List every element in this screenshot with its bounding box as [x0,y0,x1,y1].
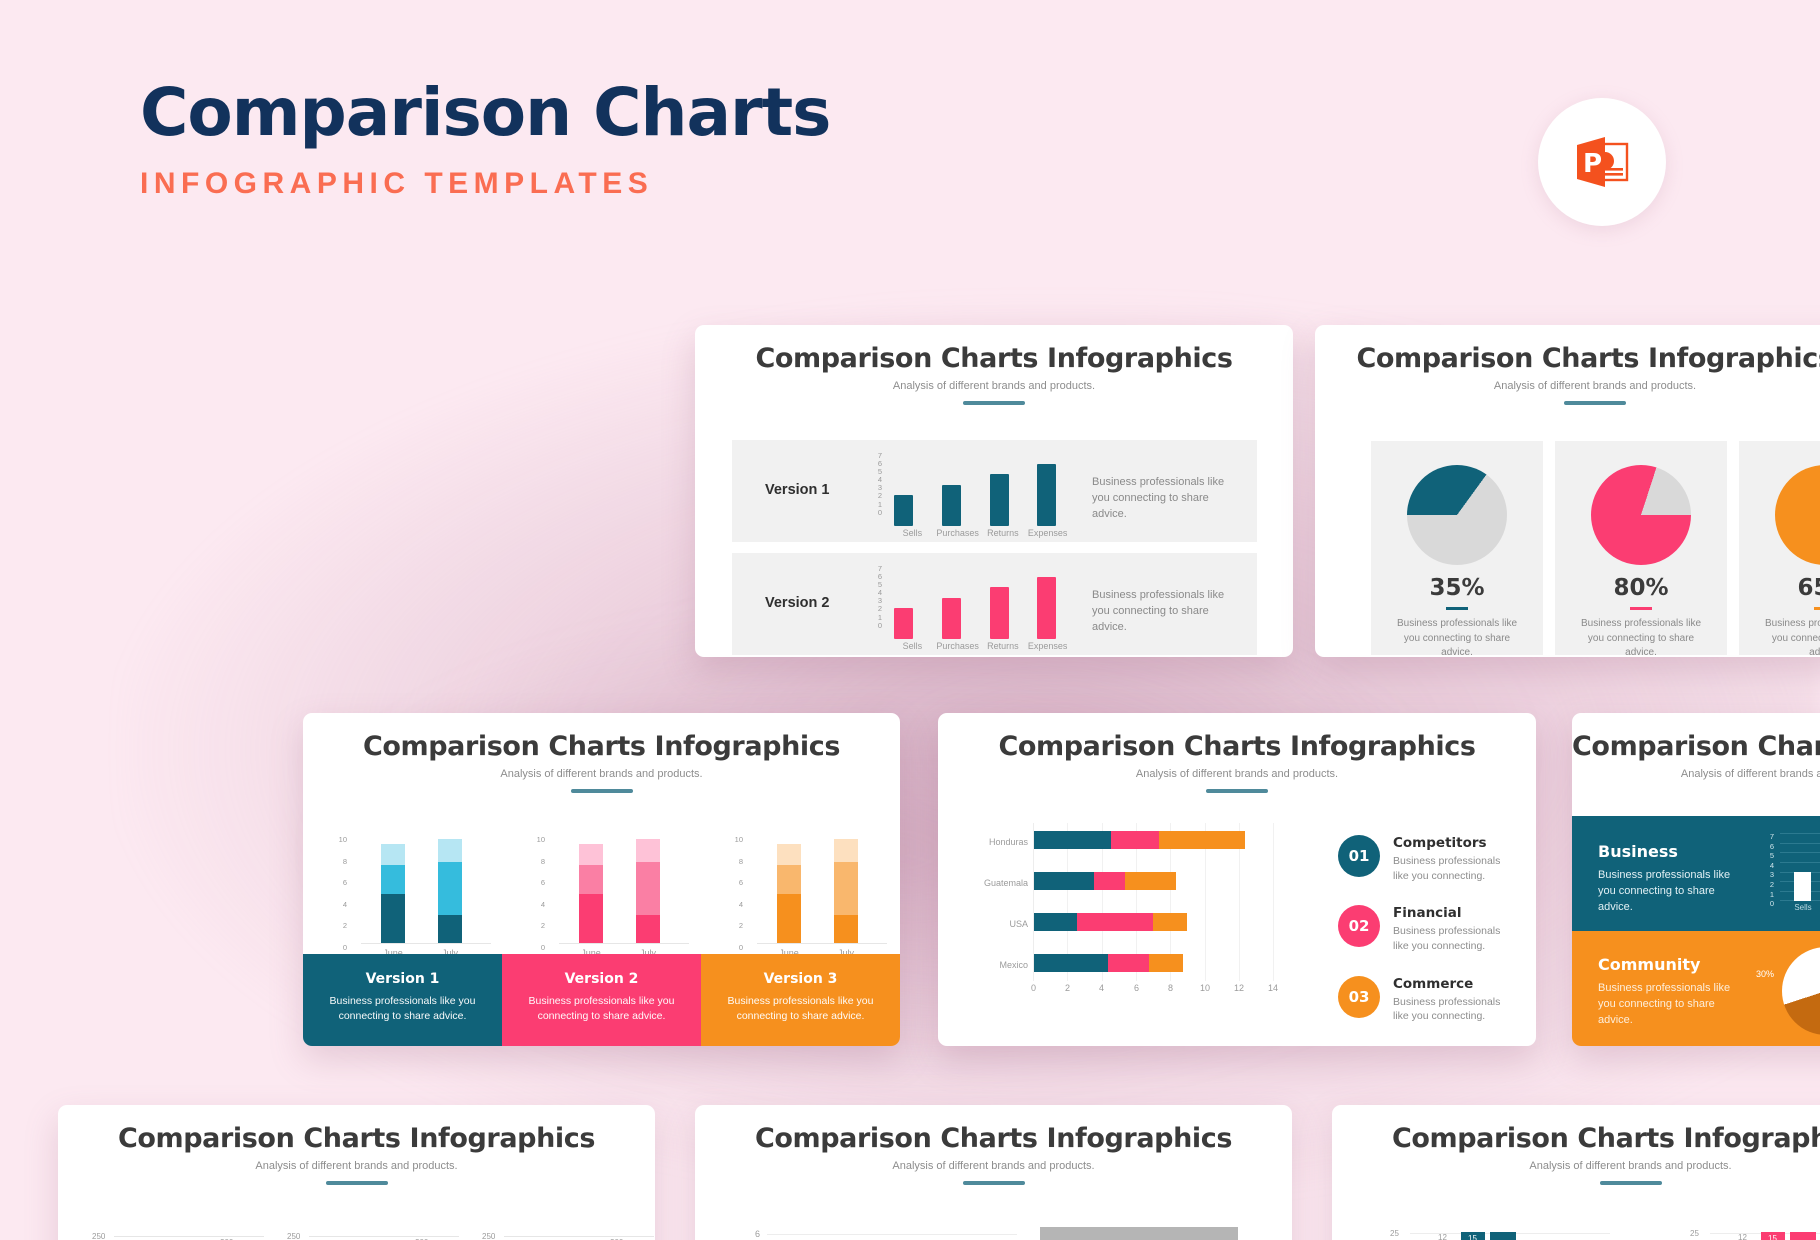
stacked-bar-july [834,836,858,944]
pie-chart-35 [1407,465,1507,565]
slide-2-header: Comparison Charts Infographics Analysis … [1315,325,1820,405]
pie-value-35: 35% [1371,575,1543,601]
version-1-label: Version 1 [765,482,829,498]
y-axis-1: 76543210 [872,452,882,517]
slide-title: Comparison Charts Infographics [58,1123,655,1154]
xtick-12: 12 [1234,983,1244,993]
ytick-250: 250 [287,1232,300,1240]
title-rule [1600,1181,1662,1185]
slide-card-8[interactable]: Comparison Charts Infographics Analysis … [1332,1105,1820,1240]
stacked-bar-july [636,836,660,944]
title-rule [326,1181,388,1185]
cat-sells: Sells [890,641,935,651]
business-title: Business [1598,842,1678,861]
xtick-10: 10 [1200,983,1210,993]
legend-title-01: Competitors [1393,835,1518,851]
slide-5-header: Comparison Charts Infographics Analysis … [1572,713,1820,780]
svg-text:P: P [1583,149,1602,179]
ytick-25: 25 [1390,1229,1399,1238]
pie-panel-2: 80% Business professionals like you conn… [1555,441,1727,655]
xtick-8: 8 [1168,983,1173,993]
cat-purchases: Purchases [935,528,981,538]
pie-rule-3 [1814,607,1820,610]
xtick-14: 14 [1268,983,1278,993]
version-row-2: Version 2 76543210 Sells Purchases Retur… [732,553,1257,655]
xtick-4: 4 [1099,983,1104,993]
version-strip-2[interactable]: Version 2 Business professionals like yo… [502,954,701,1046]
slide-card-4[interactable]: Comparison Charts Infographics Analysis … [938,713,1536,1046]
bar-expenses [1037,464,1056,526]
y-axis-teal: 1086420 [333,829,347,958]
strip-3-title: Version 3 [701,971,900,987]
label-12: 12 [1438,1233,1447,1240]
title-rule [1206,789,1268,793]
title-rule [963,401,1025,405]
ytick-250: 250 [482,1232,495,1240]
bar-sells [1794,872,1811,901]
label-15: 15 [1768,1234,1777,1240]
pie-caption-1: Business professionals like you connecti… [1389,617,1525,657]
legend-text-02: Business professionals like you connecti… [1393,924,1518,953]
stacked-bar-july [438,836,462,944]
bar-sells [894,495,913,526]
bar-returns [990,587,1009,639]
slide-1-header: Comparison Charts Infographics Analysis … [695,325,1293,405]
stacked-panel-3: 1086420 June July [721,826,900,971]
bar-expenses [1037,577,1056,639]
strip-1-text: Business professionals like you connecti… [303,994,502,1024]
title-rule [963,1181,1025,1185]
cat-purchases: Purchases [935,641,981,651]
slide-title: Comparison Charts Infographics [303,731,900,762]
waterfall-chart-teal: 25 20 12 15 20 10 [1390,1229,1630,1240]
slide-8-header: Comparison Charts Infographics Analysis … [1332,1105,1820,1185]
hbar-label-honduras: Honduras [983,837,1028,847]
legend-badge-03: 03 [1338,976,1380,1018]
hbar-row-guatemala [1034,872,1176,890]
slide-subtitle: Analysis of different brands and product… [938,768,1536,780]
pie-rule-2 [1630,607,1652,610]
title-rule [1564,401,1626,405]
legend-item-financial[interactable]: 02 Financial Business professionals like… [1338,905,1518,953]
bar-purchases [942,598,961,639]
y-axis-2: 76543210 [872,565,882,630]
hbar-label-usa: USA [983,919,1028,929]
community-text: Business professionals like you connecti… [1598,981,1738,1029]
business-text: Business professionals like you connecti… [1598,868,1738,916]
slide-7-header: Comparison Charts Infographics Analysis … [695,1105,1292,1185]
slide-4-header: Comparison Charts Infographics Analysis … [938,713,1536,793]
legend-badge-01: 01 [1338,835,1380,877]
pie-chart-65 [1775,465,1820,565]
legend-text-03: Business professionals like you connecti… [1393,995,1518,1024]
table-header-row: Product 2001 2002 2993 [1040,1227,1238,1240]
cat-sells: Sells [890,528,935,538]
xtick-0: 0 [1031,983,1036,993]
business-panel: Business Business professionals like you… [1572,816,1820,931]
strip-1-title: Version 1 [303,971,502,987]
cat-sells: Sells [1782,903,1820,912]
pie-caption-3: Business professionals like you connecti… [1757,617,1820,657]
version-1-note: Business professionals like you connecti… [1092,475,1237,523]
hbar-label-guatemala: Guatemala [983,878,1028,888]
title-rule [571,789,633,793]
version-strip-1[interactable]: Version 1 Business professionals like yo… [303,954,502,1046]
legend-title-02: Financial [1393,905,1518,921]
legend-item-commerce[interactable]: 03 Commerce Business professionals like … [1338,976,1518,1024]
slide-title: Comparison Charts Infographics [1332,1123,1820,1154]
slide-card-3[interactable]: Comparison Charts Infographics Analysis … [303,713,900,1046]
community-panel: Community Business professionals like yo… [1572,931,1820,1046]
axis-label-6: 6 [755,1229,760,1239]
hbar-row-honduras [1034,831,1245,849]
stacked-bar-june [381,836,405,944]
stacked-panel-1: 1086420 June July [325,826,523,971]
pie-caption-2: Business professionals like you connecti… [1573,617,1709,657]
strip-2-title: Version 2 [502,971,701,987]
ytick-25: 25 [1690,1229,1699,1238]
slide-6-header: Comparison Charts Infographics Analysis … [58,1105,655,1185]
page-title: Comparison Charts [140,78,830,147]
slide-subtitle: Analysis of different brands and product… [1332,1160,1820,1172]
slide-subtitle: Analysis of different brands and product… [695,380,1293,392]
stacked-bar-june [777,836,801,944]
hbar-row-mexico [1034,954,1183,972]
cat-returns: Returns [980,528,1025,538]
hbar-row-usa [1034,913,1187,931]
powerpoint-badge: P [1538,98,1666,226]
mini-chart-1: 250 200 70 200 [92,1232,267,1240]
legend-title-03: Commerce [1393,976,1518,992]
bar-returns [990,474,1009,526]
data-table: Product 2001 2002 2993 [1040,1227,1238,1240]
waterfall-chart-pink: 25 20 12 15 20 [1690,1229,1820,1240]
legend-text-01: Business professionals like you connecti… [1393,854,1518,883]
slide-subtitle: Analysis of different brands and product… [58,1160,655,1172]
slide-card-1[interactable]: Comparison Charts Infographics Analysis … [695,325,1293,657]
pie-rule-1 [1446,607,1468,610]
strip-3-text: Business professionals like you connecti… [701,994,900,1024]
label-15: 15 [1468,1234,1477,1240]
slide-3-header: Comparison Charts Infographics Analysis … [303,713,900,793]
cat-expenses: Expenses [1025,528,1070,538]
slide-card-2[interactable]: Comparison Charts Infographics Analysis … [1315,325,1820,657]
version-2-note: Business professionals like you connecti… [1092,588,1237,636]
pie-value-80: 80% [1555,575,1727,601]
powerpoint-icon: P [1571,131,1633,193]
pie-value-65: 65% [1739,575,1820,601]
ytick-250: 250 [92,1232,105,1240]
stacked-bar-june [579,836,603,944]
slide-subtitle: Analysis of different brands and product… [1572,768,1820,780]
page-subtitle: INFOGRAPHIC TEMPLATES [140,167,830,201]
bar-purchases [942,485,961,526]
slide-card-5[interactable]: Comparison Charts Infographics Analysis … [1572,713,1820,1046]
hbar-label-mexico: Mexico [983,960,1028,970]
xtick-6: 6 [1134,983,1139,993]
y-axis-pink: 1086420 [531,829,545,958]
cat-expenses: Expenses [1025,641,1070,651]
version-2-label: Version 2 [765,595,829,611]
y-axis-orange: 1086420 [729,829,743,958]
slide-subtitle: Analysis of different brands and product… [695,1160,1292,1172]
community-pie-label: 30% [1756,969,1774,979]
pie-chart-80 [1591,465,1691,565]
bar-sells [894,608,913,639]
slide-card-7[interactable]: Comparison Charts Infographics Analysis … [695,1105,1292,1240]
slide-title: Comparison Charts Infographics [1572,731,1820,762]
slide-title: Comparison Charts Infographics [938,731,1536,762]
strip-2-text: Business professionals like you connecti… [502,994,701,1024]
page-header: Comparison Charts INFOGRAPHIC TEMPLATES [140,78,830,201]
slide-title: Comparison Charts Infographics [1315,343,1820,374]
mini-chart-2: 250 200 70 200 [287,1232,462,1240]
hbar-chart: Honduras Guatemala USA Mexico 0 2 4 6 8 … [983,823,1323,1003]
stacked-panel-2: 1086420 June July [523,826,721,971]
legend-badge-02: 02 [1338,905,1380,947]
community-title: Community [1598,955,1700,974]
slide-title: Comparison Charts Infographics [695,343,1293,374]
cat-returns: Returns [980,641,1025,651]
wf-bar-3 [1490,1232,1516,1240]
legend-item-competitors[interactable]: 01 Competitors Business professionals li… [1338,835,1518,883]
y-axis-business: 76543210 [1764,832,1774,909]
version-strip-3[interactable]: Version 3 Business professionals like yo… [701,954,900,1046]
xtick-2: 2 [1065,983,1070,993]
wf-bar-3 [1790,1232,1816,1240]
community-pie-chart [1782,947,1820,1035]
pie-panel-1: 35% Business professionals like you conn… [1371,441,1543,655]
slide-card-6[interactable]: Comparison Charts Infographics Analysis … [58,1105,655,1240]
slide-subtitle: Analysis of different brands and product… [1315,380,1820,392]
label-12: 12 [1738,1233,1747,1240]
slide-4-legend: 01 Competitors Business professionals li… [1338,835,1518,1046]
slide-subtitle: Analysis of different brands and product… [303,768,900,780]
slide-title: Comparison Charts Infographics [695,1123,1292,1154]
version-row-1: Version 1 76543210 Sells Purchases Retur… [732,440,1257,542]
pie-panel-3: 65% Business professionals like you conn… [1739,441,1820,655]
mini-chart-3: 250 200 70 200 [482,1232,655,1240]
